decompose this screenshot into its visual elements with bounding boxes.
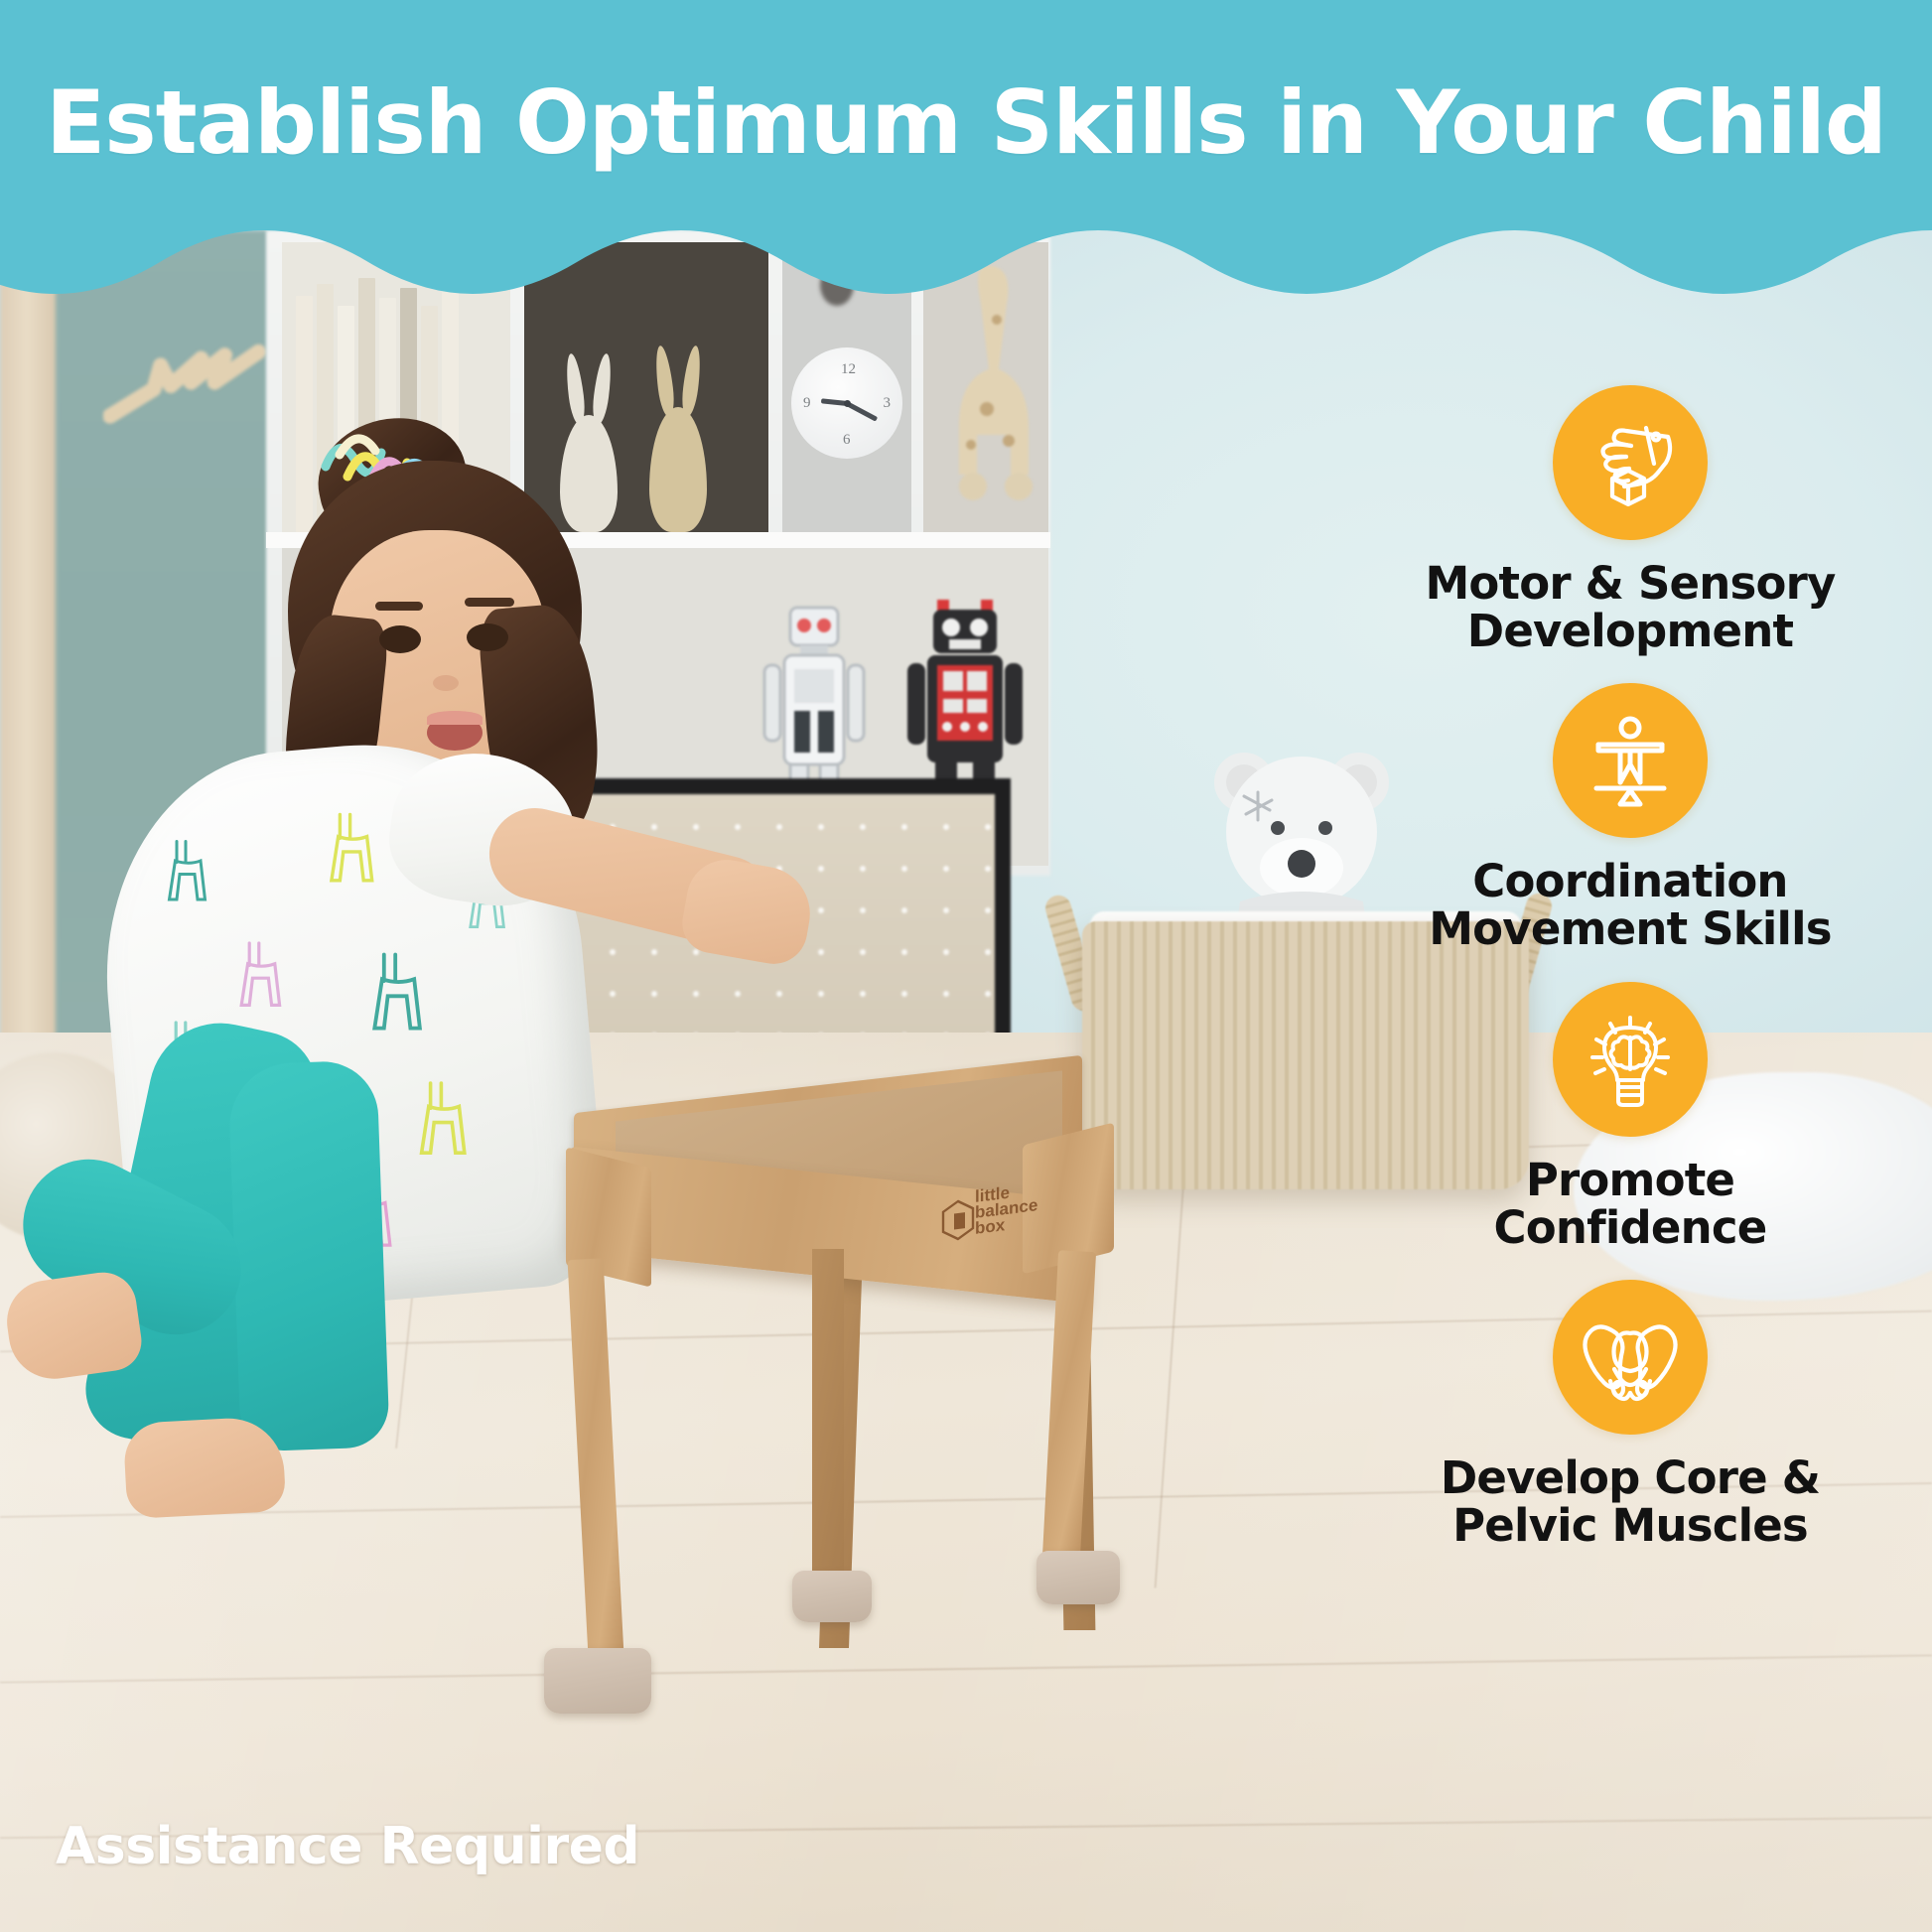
feature-item-core-pelvic[interactable]: Develop Core & Pelvic Muscles — [1372, 1280, 1888, 1550]
feature-item-coordination[interactable]: Coordination Movement Skills — [1372, 683, 1888, 953]
nose — [433, 675, 459, 691]
person-balancing-on-seesaw-icon — [1583, 713, 1678, 808]
hand-grasping-cube-icon — [1583, 415, 1678, 510]
page-title: Establish Optimum Skills in Your Child — [0, 71, 1932, 174]
feature-item-confidence[interactable]: Promote Confidence — [1372, 982, 1888, 1252]
marketing-graphic: 12 3 6 9 — [0, 0, 1932, 1932]
feature-icon-badge — [1553, 1280, 1708, 1435]
feature-list: Motor & Sensory Development — [1372, 385, 1888, 1578]
bamboo-table: little balance box — [596, 1082, 1330, 1817]
legging-right — [227, 1060, 390, 1452]
feature-icon-badge — [1553, 683, 1708, 838]
feature-icon-badge — [1553, 982, 1708, 1137]
feature-label: Motor & Sensory Development — [1425, 560, 1835, 655]
table-foot-front-left — [544, 1648, 651, 1714]
feature-label: Coordination Movement Skills — [1429, 858, 1832, 953]
feature-icon-badge — [1553, 385, 1708, 540]
header-banner: Establish Optimum Skills in Your Child — [0, 0, 1932, 330]
table-leg-mid — [812, 1249, 844, 1577]
eye-left — [379, 625, 421, 653]
table-foot-mid — [792, 1571, 872, 1622]
feature-label: Promote Confidence — [1494, 1157, 1767, 1252]
eyebrow-right — [465, 598, 514, 607]
upper-lip — [427, 711, 483, 725]
assistance-required-note: Assistance Required — [56, 1817, 639, 1876]
foot-left — [2, 1268, 146, 1384]
feature-item-motor-sensory[interactable]: Motor & Sensory Development — [1372, 385, 1888, 655]
brand-cube-icon — [941, 1197, 975, 1243]
table-foot-front-right — [1036, 1551, 1120, 1604]
lightbulb-brain-icon — [1583, 1012, 1678, 1107]
foot-right — [123, 1416, 287, 1519]
eye-right — [467, 623, 508, 651]
brand-logo: little balance box — [975, 1181, 1037, 1237]
pelvis-bone-icon — [1581, 1308, 1680, 1407]
hand — [678, 854, 818, 969]
eyebrow-left — [375, 602, 423, 611]
feature-label: Develop Core & Pelvic Muscles — [1441, 1454, 1820, 1550]
